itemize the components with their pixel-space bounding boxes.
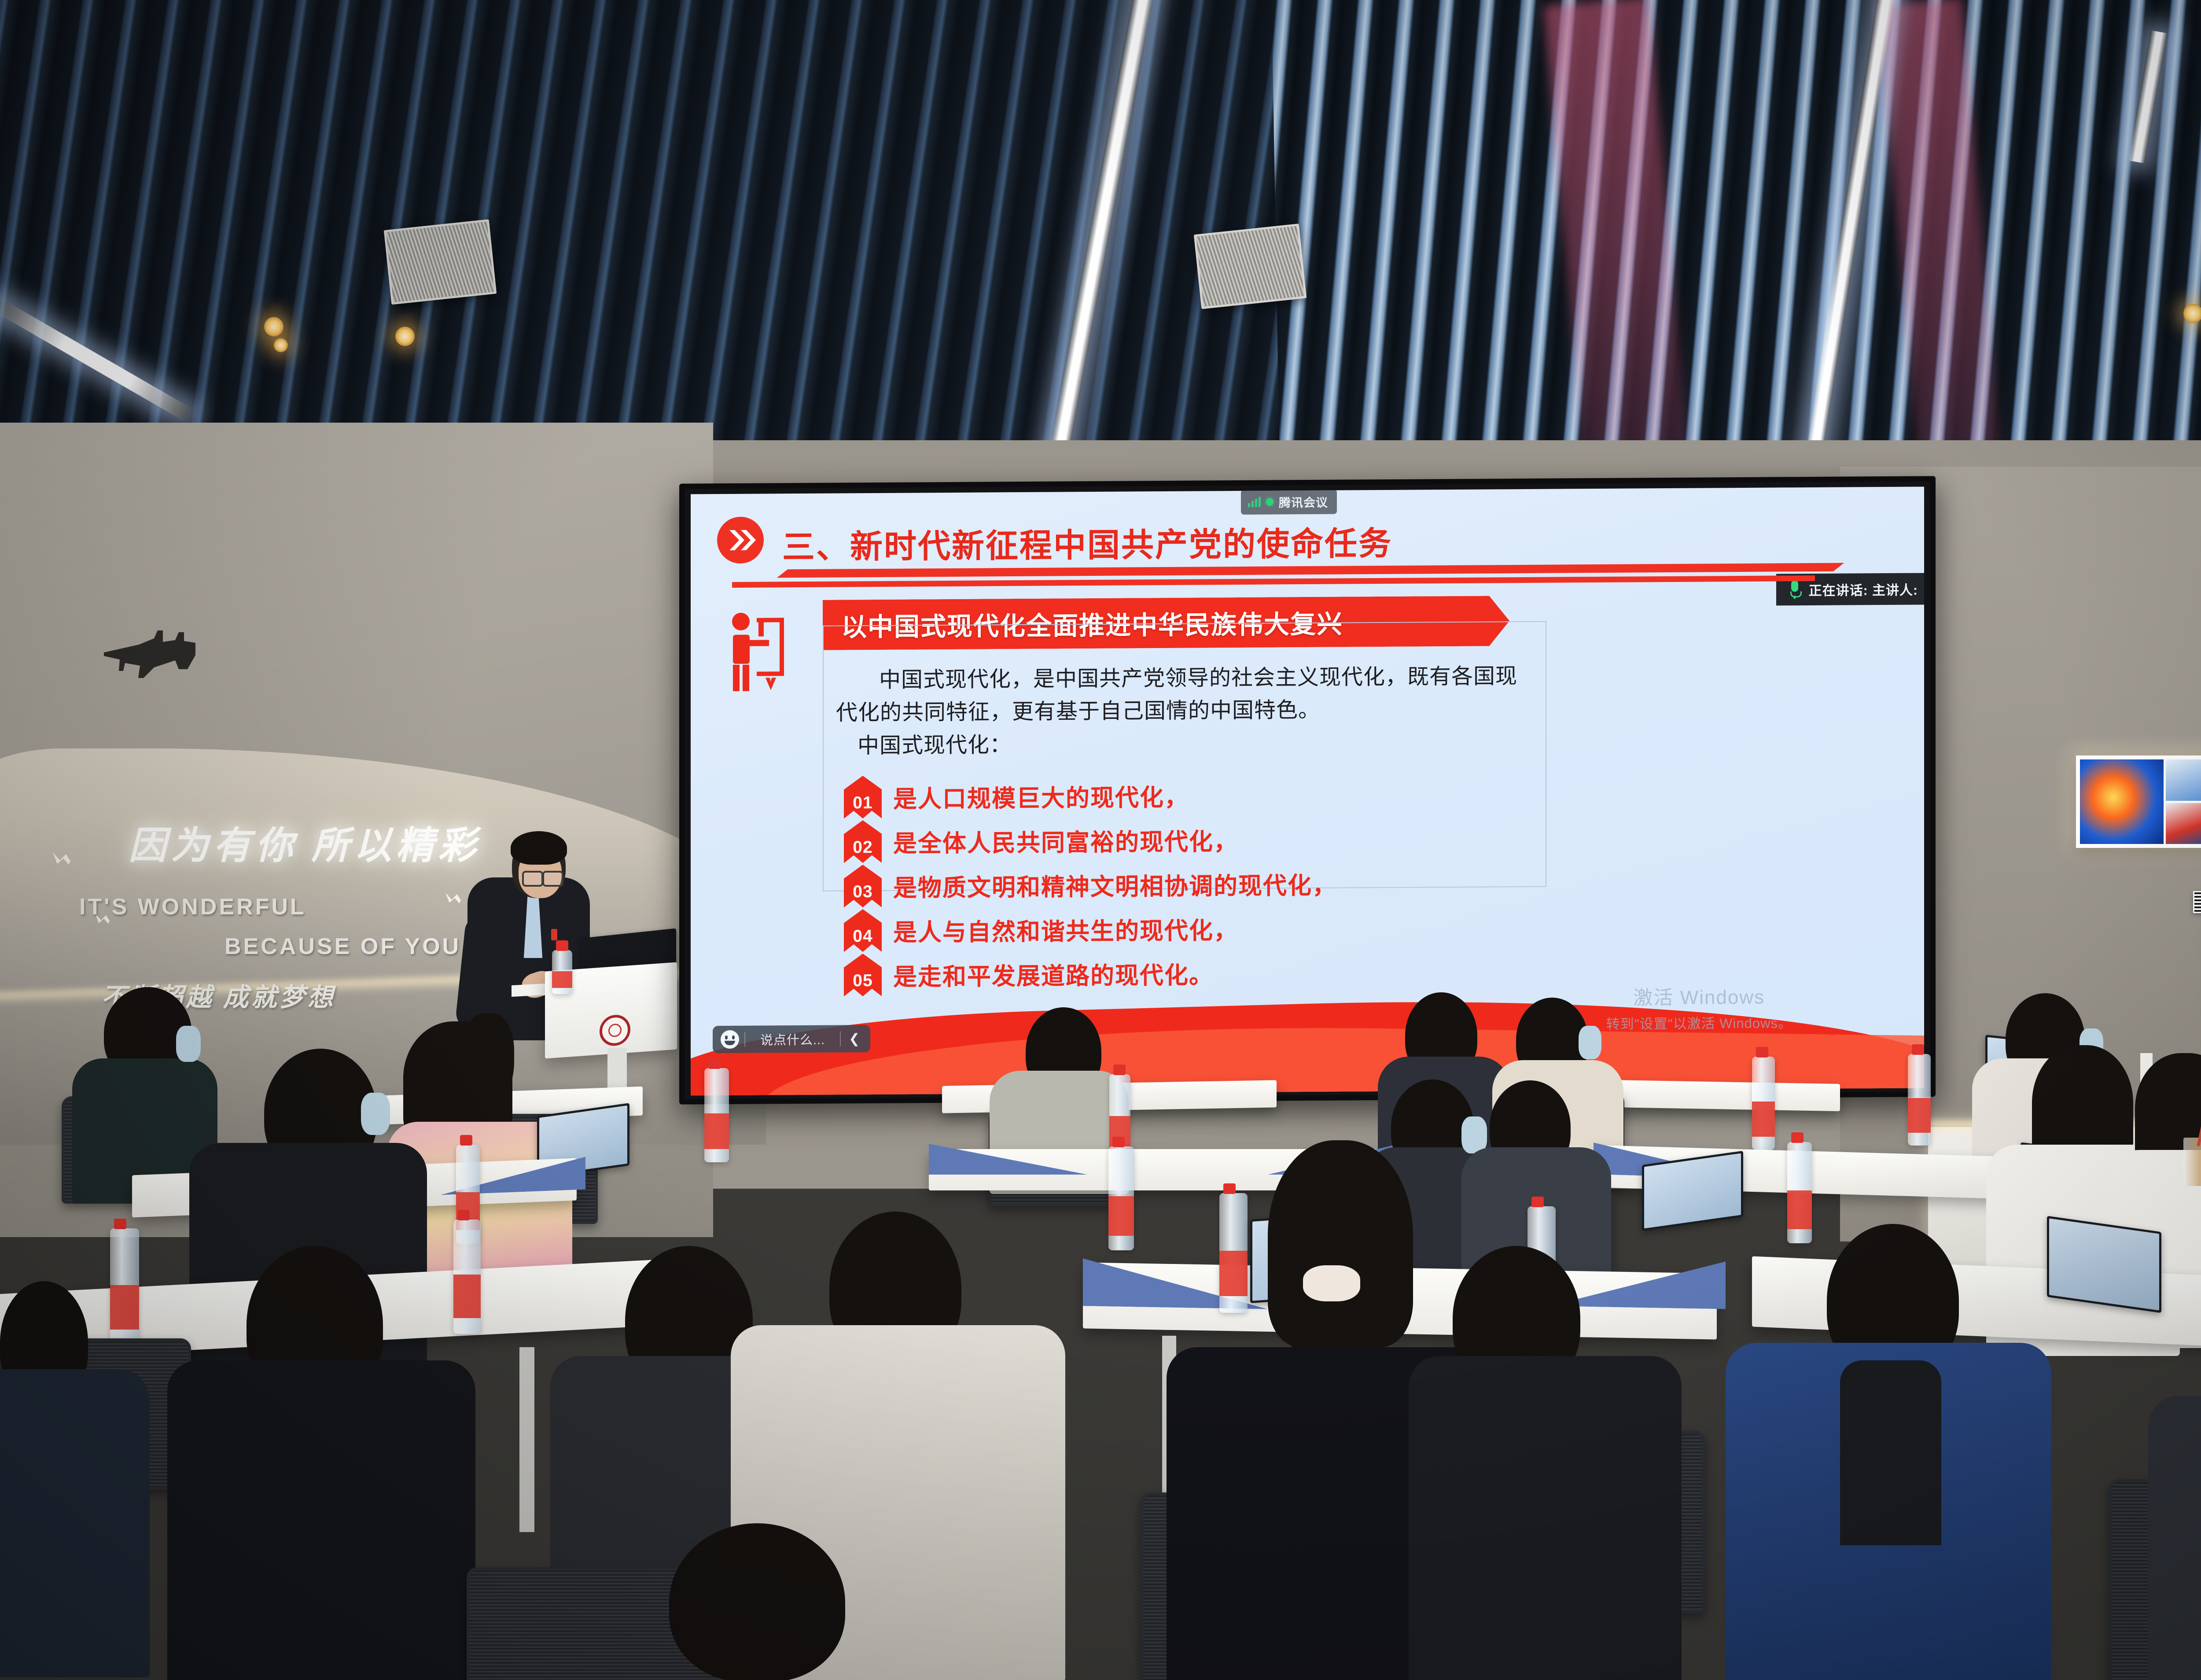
presenter-hair (511, 831, 567, 865)
water-bottle-a2 (704, 1068, 729, 1162)
ceiling-air-vent-2 (1194, 224, 1307, 309)
conference-room-photo: 因为有你 所以精彩 IT'S WONDERFUL BECAUSE OF YOU … (0, 0, 2201, 1680)
presenter-glasses-right (542, 871, 563, 887)
list-item: 03 是物质文明和精神文明相协调的现代化， (844, 861, 1337, 909)
list-item: 01 是人口规模巨大的现代化， (844, 772, 1337, 820)
water-bottle-b1 (1108, 1146, 1134, 1250)
water-bottle-b4 (1787, 1142, 1812, 1243)
presentation-slide: 腾讯会议 正在讲话: 主讲人: 三、新时代新征程中国共产党的使命任务 (691, 486, 1924, 1095)
list-badge-star: 02 (844, 820, 882, 863)
windows-activation-watermark: 激活 Windows 转到"设置"以激活 Windows。 (1606, 981, 1792, 1033)
hair-scrunchie-c5 (1303, 1265, 1360, 1301)
wall-slogan-english-line2: BECAUSE OF YOU (225, 933, 461, 960)
double-chevron-right-icon (717, 517, 764, 564)
presenter-at-board-icon (726, 612, 800, 695)
list-item-text: 是全体人民共同富裕的现代化， (893, 822, 1238, 859)
ceiling-air-vent-1 (384, 219, 497, 305)
airplane-silhouette-icon (101, 625, 247, 687)
list-item-number: 02 (844, 838, 882, 858)
slide-numbered-list: 01 是人口规模巨大的现代化， 02 是全体人民共同富裕的现代化， 03 是物质… (844, 772, 1337, 998)
slide-paragraph-line2: 代化的共同特征，更有基于自己国情的中国特色。 (836, 693, 1536, 729)
list-item-text: 是物质文明和精神文明相协调的现代化， (893, 866, 1337, 903)
slide-header-rule (732, 575, 1815, 588)
speaker-status-label: 正在讲话: 主讲人: (1809, 579, 1918, 600)
signal-bars-icon (1248, 497, 1261, 507)
list-item-number: 01 (844, 793, 882, 813)
list-item-text: 是人与自然和谐共生的现代化， (893, 911, 1238, 948)
tencent-meeting-label: 腾讯会议 (1279, 493, 1328, 511)
ceiling-spotlight-1 (264, 317, 283, 336)
ceiling-baffles-lit (1270, 0, 2201, 511)
list-badge-star: 04 (844, 909, 882, 952)
qr-code-1[interactable] (2193, 891, 2201, 913)
podium-emblem (600, 1014, 630, 1047)
laptop-c2[interactable] (2047, 1216, 2161, 1313)
slide-section-title: 三、新时代新征程中国共产党的使命任务 (782, 517, 1392, 568)
face-mask-b2 (1461, 1116, 1487, 1153)
chevron-left-icon[interactable]: ❮ (841, 1031, 868, 1046)
list-badge-star: 01 (844, 776, 882, 819)
audience-ponytail-a2 (462, 1013, 514, 1106)
watermark-line1: 激活 Windows (1606, 981, 1792, 1010)
audience-torso-c2 (167, 1360, 475, 1680)
list-badge-star: 03 (844, 865, 882, 908)
water-bottle-c1 (110, 1228, 139, 1346)
wall-slogan-english-line1: IT'S WONDERFUL (79, 894, 306, 920)
art-frame-lightbox-poster (2076, 755, 2201, 848)
slide-paragraph: 中国式现代化，是中国共产党领导的社会主义现代化，既有各国现 代化的共同特征，更有… (836, 660, 1536, 763)
tencent-meeting-pill[interactable]: 腾讯会议 (1241, 490, 1337, 515)
audience-torso-c8 (2148, 1396, 2201, 1680)
table-leg-c1 (519, 1347, 534, 1532)
water-bottle-a6 (1908, 1054, 1931, 1146)
slide-paragraph-line3: 中国式现代化： (836, 726, 1536, 763)
bird-silhouette-icon-3 (445, 891, 465, 904)
list-item-number: 04 (844, 927, 882, 947)
list-item-text: 是人口规模巨大的现代化， (893, 778, 1189, 814)
green-status-dot (1266, 498, 1273, 505)
water-bottle-c3 (1219, 1193, 1248, 1313)
face-mask-b1 (361, 1093, 390, 1135)
podium-water-bottle (552, 950, 572, 994)
presenter-glasses-left (522, 871, 543, 887)
projection-screen: 腾讯会议 正在讲话: 主讲人: 三、新时代新征程中国共产党的使命任务 (679, 476, 1936, 1104)
slide-header: 三、新时代新征程中国共产党的使命任务 (717, 508, 1907, 582)
water-bottle-a5 (1752, 1057, 1775, 1150)
watermark-line2: 转到"设置"以激活 Windows。 (1606, 1012, 1792, 1033)
meeting-chat-bar[interactable]: 说点什么... ❮ (713, 1025, 870, 1053)
list-item: 02 是全体人民共同富裕的现代化， (844, 817, 1337, 864)
slide-paragraph-line1: 中国式现代化，是中国共产党领导的社会主义现代化，既有各国现 (836, 660, 1536, 697)
ceiling-spotlight-4 (2183, 304, 2201, 323)
audience-hood-c7 (1840, 1360, 1941, 1545)
emoji-smiley-icon[interactable] (721, 1030, 739, 1049)
bird-silhouette-icon-1 (52, 851, 75, 866)
audience-torso-c1 (0, 1369, 150, 1677)
wall-slogan-chinese: 因为有你 所以精彩 (129, 814, 481, 869)
microphone-icon (1789, 580, 1800, 599)
ceiling-spotlight-3 (395, 327, 415, 346)
list-item-number: 03 (844, 882, 882, 902)
ceiling-spotlight-2 (274, 338, 288, 352)
face-mask-a5 (1579, 1026, 1601, 1059)
chat-input[interactable]: 说点什么... (745, 1029, 840, 1048)
presenter-badge (551, 929, 557, 940)
audience-torso-c6 (1409, 1356, 1682, 1680)
audience-head-c9 (669, 1523, 845, 1680)
water-bottle-c2 (453, 1219, 481, 1334)
face-mask-a1 (176, 1026, 201, 1062)
list-item: 04 是人与自然和谐共生的现代化， (844, 906, 1337, 953)
laptop-b1[interactable] (1642, 1151, 1743, 1231)
